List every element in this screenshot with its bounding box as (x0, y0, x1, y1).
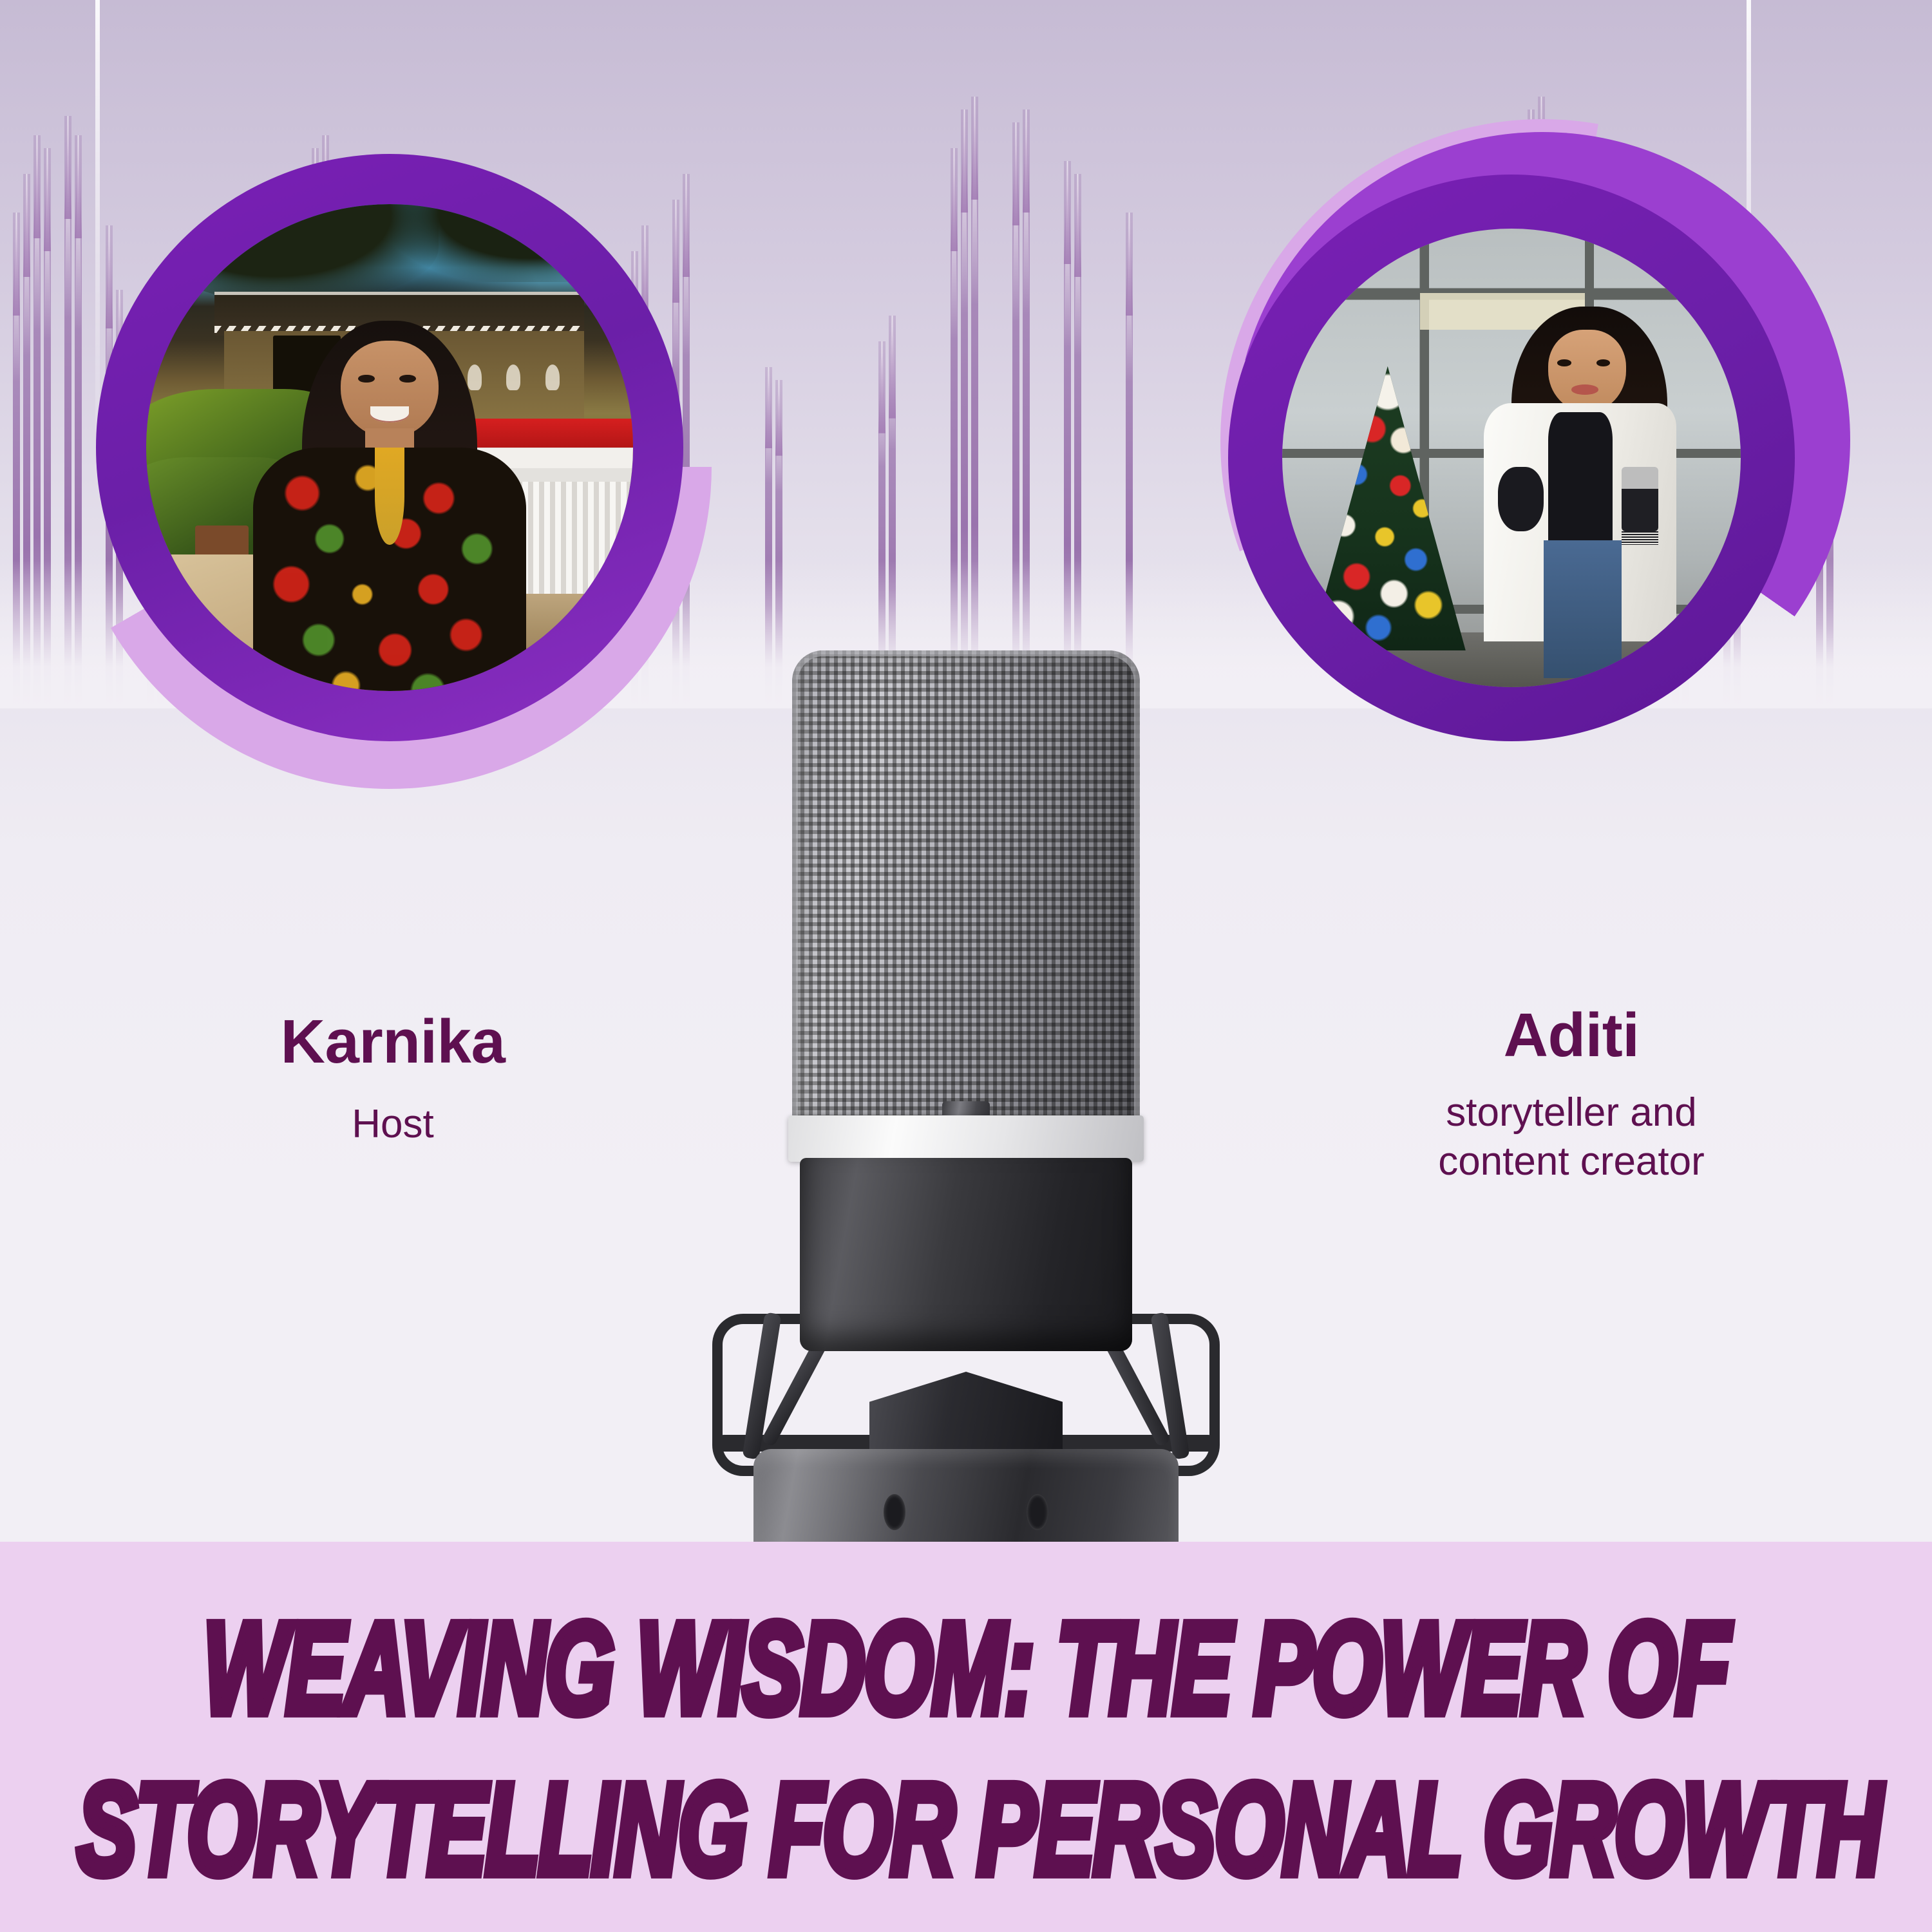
microphone-illustration (734, 650, 1198, 1565)
microphone-base-hole-left (884, 1494, 905, 1530)
guest-name-karnika: Karnika (161, 1011, 625, 1073)
waveform-bar-tip (1012, 122, 1019, 225)
waveform-bar-tip (33, 135, 41, 238)
guest-name-aditi: Aditi (1288, 1005, 1855, 1066)
waveform-bar-tip (1074, 174, 1081, 277)
waveform-bar-tip (971, 97, 978, 200)
microphone-body (800, 1158, 1132, 1351)
avatar-aditi (1220, 119, 1864, 763)
waveform-bar-tip (1126, 213, 1133, 316)
waveform-bar-tip (1064, 161, 1071, 264)
episode-title-banner: WEAVING WISDOM: THE POWER OF STORYTELLIN… (0, 1542, 1932, 1932)
podcast-promo-poster: Karnika Host Aditi storyteller and conte… (0, 0, 1932, 1932)
waveform-bar-tip (1023, 109, 1030, 213)
guest-role-karnika: Host (161, 1100, 625, 1149)
episode-title-line-1: WEAVING WISDOM: THE POWER OF (77, 1594, 1855, 1743)
waveform-bar-tip (878, 341, 885, 433)
waveform-bar-tip (951, 148, 958, 251)
waveform-bar-tip (765, 367, 772, 448)
guest-role-aditi-line2: content creator (1288, 1137, 1855, 1186)
avatar-karnika (68, 145, 712, 789)
microphone-base-hole-right (1027, 1494, 1048, 1530)
guest-role-aditi-line1: storyteller and (1288, 1088, 1855, 1137)
name-block-aditi: Aditi storyteller and content creator (1288, 1005, 1855, 1186)
waveform-bar-tip (775, 380, 782, 456)
microphone-white-band (788, 1115, 1144, 1162)
waveform-bar-tip (23, 174, 30, 277)
waveform-bar-tip (961, 109, 968, 213)
episode-title-line-2: STORYTELLING FOR PERSONAL GROWTH (77, 1755, 1855, 1904)
waveform-bar-tip (889, 316, 896, 419)
microphone-grille-edge (792, 650, 1140, 1127)
waveform-bar-tip (13, 213, 20, 316)
name-block-karnika: Karnika Host (161, 1011, 625, 1149)
avatar-aditi-photo (1282, 229, 1741, 687)
avatar-karnika-photo (146, 204, 633, 691)
waveform-bar-tip (44, 148, 51, 251)
